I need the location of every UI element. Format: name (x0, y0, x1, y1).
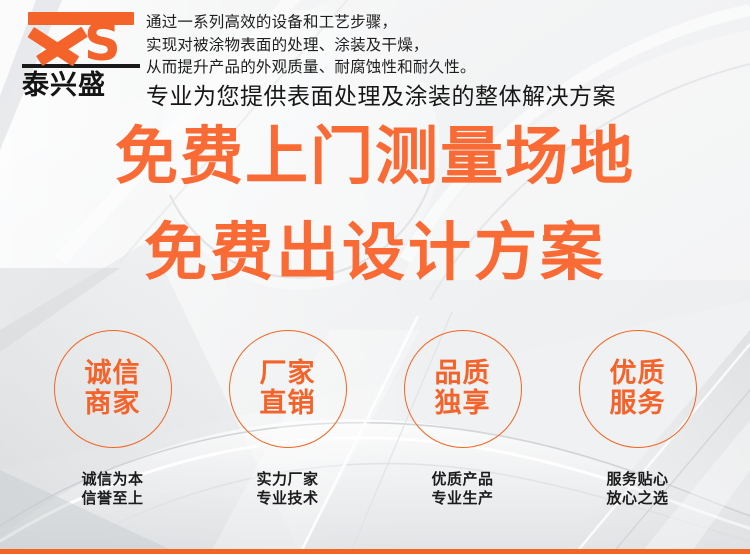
logo-mark-xs-icon: S (22, 10, 140, 62)
headline-primary: 免费上门测量场地 (0, 121, 750, 193)
feature-circle-3: 品质 独享 (404, 330, 522, 448)
feature-circle-1-line-1: 诚信 (85, 359, 141, 389)
feature-circle-2: 厂家 直销 (229, 330, 347, 448)
feature-circle-1-line-2: 商家 (85, 389, 141, 419)
feature-caption-2-line-2: 专业技术 (256, 489, 318, 508)
feature-item-4: 优质 服务 服务贴心 放心之选 (565, 330, 710, 508)
feature-caption-4-line-1: 服务贴心 (606, 470, 668, 489)
header-line-1: 通过一系列高效的设备和工艺步骤， (146, 12, 746, 35)
bottom-accent-bar (0, 549, 750, 554)
feature-circle-3-line-2: 独享 (435, 389, 491, 419)
feature-caption-1: 诚信为本 信誉至上 (81, 470, 143, 508)
feature-caption-1-line-1: 诚信为本 (81, 470, 143, 489)
header-description: 通过一系列高效的设备和工艺步骤， 实现对被涂物表面的处理、涂装及干燥， 从而提升… (146, 12, 746, 80)
feature-list: 诚信 商家 诚信为本 信誉至上 厂家 直销 实力厂家 专业技术 品质 独享 (0, 330, 750, 545)
headline-secondary: 免费出设计方案 (0, 217, 750, 289)
feature-caption-4-line-2: 放心之选 (606, 489, 668, 508)
feature-circle-4-line-2: 服务 (610, 389, 666, 419)
feature-circle-3-line-1: 品质 (435, 359, 491, 389)
feature-caption-3-line-1: 优质产品 (431, 470, 493, 489)
logo-divider (22, 64, 140, 68)
feature-caption-3: 优质产品 专业生产 (431, 470, 493, 508)
feature-item-2: 厂家 直销 实力厂家 专业技术 (215, 330, 360, 508)
feature-caption-1-line-2: 信誉至上 (81, 489, 143, 508)
logo-company-name: 泰兴盛 (22, 71, 142, 101)
logo-s-letter: S (84, 22, 121, 66)
header-subtitle: 专业为您提供表面处理及涂装的整体解决方案 (146, 82, 616, 110)
feature-caption-2-line-1: 实力厂家 (256, 470, 318, 489)
header-line-2: 实现对被涂物表面的处理、涂装及干燥， (146, 35, 746, 58)
feature-circle-2-line-2: 直销 (260, 389, 316, 419)
company-logo: S 泰兴盛 (22, 10, 142, 102)
feature-circle-1: 诚信 商家 (54, 330, 172, 448)
promotional-banner: S 泰兴盛 通过一系列高效的设备和工艺步骤， 实现对被涂物表面的处理、涂装及干燥… (0, 0, 750, 554)
feature-item-3: 品质 独享 优质产品 专业生产 (390, 330, 535, 508)
feature-circle-4: 优质 服务 (579, 330, 697, 448)
header-line-3: 从而提升产品的外观质量、耐腐蚀性和耐久性。 (146, 57, 746, 80)
feature-caption-3-line-2: 专业生产 (431, 489, 493, 508)
feature-circle-2-line-1: 厂家 (260, 359, 316, 389)
feature-circle-4-line-1: 优质 (610, 359, 666, 389)
feature-caption-2: 实力厂家 专业技术 (256, 470, 318, 508)
feature-caption-4: 服务贴心 放心之选 (606, 470, 668, 508)
feature-item-1: 诚信 商家 诚信为本 信誉至上 (40, 330, 185, 508)
